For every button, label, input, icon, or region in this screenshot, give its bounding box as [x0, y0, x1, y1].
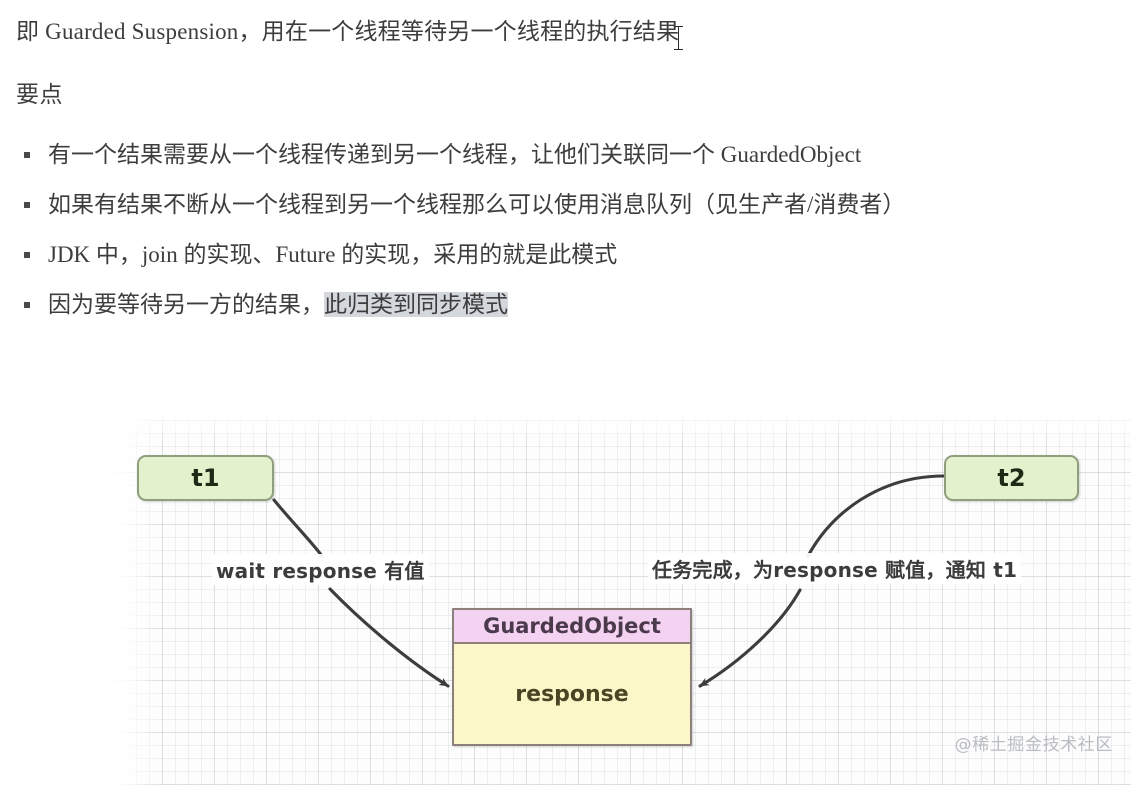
list-item-label: 因为要等待另一方的结果， — [48, 292, 324, 317]
list-item: 有一个结果需要从一个线程传递到另一个线程，让他们关联同一个 GuardedObj… — [16, 140, 1116, 190]
edge-t1-to-guardedobject-arrow — [330, 589, 448, 686]
list-item-label: JDK 中，join 的实现、Future 的实现，采用的就是此模式 — [48, 242, 617, 267]
bullet-marker-icon — [24, 252, 30, 258]
edge-t2-to-guardedobject-arrow — [700, 590, 800, 686]
edge-label-wait-response: wait response 有值 — [212, 554, 429, 585]
edge-t2-to-guardedobject — [808, 476, 944, 556]
list-item: 如果有结果不断从一个线程到另一个线程那么可以使用消息队列（见生产者/消费者） — [16, 190, 1116, 240]
guarded-object-field-response: response — [454, 644, 690, 744]
node-thread-t2[interactable]: t2 — [944, 455, 1079, 501]
intro-paragraph: 即 Guarded Suspension，用在一个线程等待另一个线程的执行结果 — [16, 17, 679, 47]
section-heading: 要点 — [16, 80, 63, 110]
bullet-marker-icon — [24, 202, 30, 208]
node-thread-t1[interactable]: t1 — [137, 455, 274, 501]
guarded-object-diagram: t1 t2 GuardedObject response wait respon… — [0, 404, 1131, 785]
article-text-block: 即 Guarded Suspension，用在一个线程等待另一个线程的执行结果 … — [0, 0, 1131, 360]
bullet-marker-icon — [24, 152, 30, 158]
list-item: 因为要等待另一方的结果，此归类到同步模式 — [16, 290, 1116, 340]
list-item-label: 如果有结果不断从一个线程到另一个线程那么可以使用消息队列（见生产者/消费者） — [48, 192, 905, 217]
watermark: @稀土掘金技术社区 — [955, 730, 1113, 755]
edge-t1-to-guardedobject — [274, 500, 322, 556]
bullet-marker-icon — [24, 302, 30, 308]
list-item: JDK 中，join 的实现、Future 的实现，采用的就是此模式 — [16, 240, 1116, 290]
list-item-label: 有一个结果需要从一个线程传递到另一个线程，让他们关联同一个 GuardedObj… — [48, 142, 861, 167]
node-thread-t2-label: t2 — [997, 464, 1025, 492]
guarded-object-title: GuardedObject — [454, 610, 690, 644]
node-guarded-object[interactable]: GuardedObject response — [452, 608, 692, 746]
node-thread-t1-label: t1 — [191, 464, 219, 492]
selected-text-highlight: 此归类到同步模式 — [324, 292, 508, 317]
edge-label-task-complete: 任务完成，为response 赋值，通知 t1 — [648, 553, 1021, 584]
key-points-list: 有一个结果需要从一个线程传递到另一个线程，让他们关联同一个 GuardedObj… — [16, 140, 1116, 340]
